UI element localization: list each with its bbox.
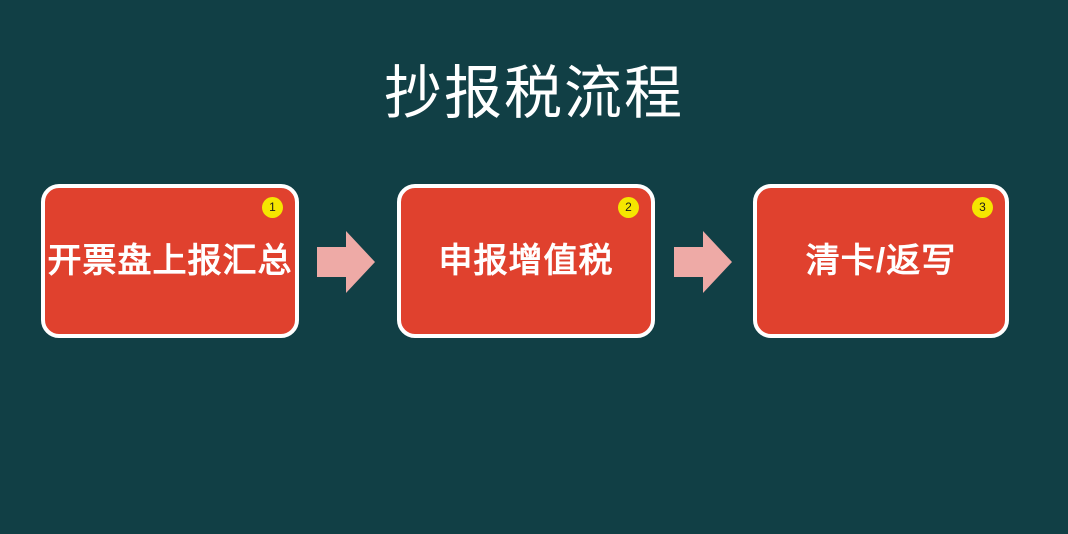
flow-step-3[interactable]: 3 清卡/返写 [753,184,1009,338]
slide-canvas: 抄报税流程 1 开票盘上报汇总 2 申报增值税 3 清卡/返写 [0,0,1068,534]
step-number-badge-2: 2 [618,197,639,218]
flow-step-2[interactable]: 2 申报增值税 [397,184,655,338]
step-number-badge-3: 3 [972,197,993,218]
step-number-badge-1: 1 [262,197,283,218]
flow-step-1-label: 开票盘上报汇总 [45,240,295,282]
right-arrow-icon [317,231,375,293]
process-flow: 1 开票盘上报汇总 2 申报增值税 3 清卡/返写 [0,184,1068,340]
flow-step-3-label: 清卡/返写 [757,240,1005,282]
page-title: 抄报税流程 [0,58,1068,130]
flow-step-2-label: 申报增值税 [401,240,651,282]
flow-step-1[interactable]: 1 开票盘上报汇总 [41,184,299,338]
right-arrow-icon [674,231,732,293]
